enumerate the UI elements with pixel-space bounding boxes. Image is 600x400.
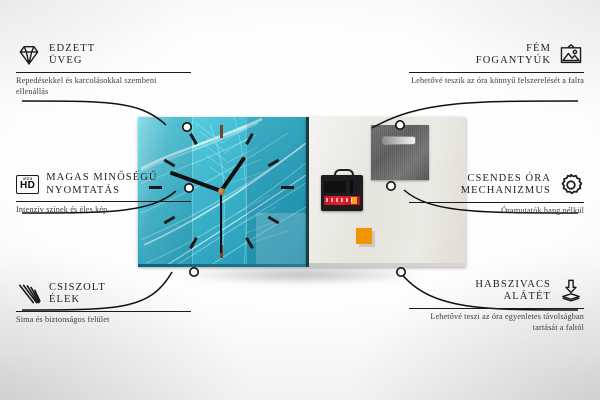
feature-header: HABSZIVACS ALÁTÉT: [409, 278, 584, 304]
feature-header: FÉM FOGANTYÚK: [409, 42, 584, 68]
diamond-icon: [16, 42, 42, 68]
feature-header: CSENDES ÓRA MECHANIZMUS: [409, 172, 584, 198]
feature-title: FÉM FOGANTYÚK: [476, 43, 551, 68]
clock-tick: [189, 133, 198, 145]
feature-header: EDZETT ÜVEG: [16, 42, 191, 68]
clock-tick: [245, 133, 254, 145]
clock-tick: [189, 237, 198, 249]
badge-hd-label: HD: [20, 181, 35, 191]
feature-title: MAGAS MINŐSÉGŰ NYOMTATÁS: [46, 172, 157, 197]
gear-icon: [558, 172, 584, 198]
feature-polished-edges[interactable]: CSISZOLT ÉLEK Sima és biztonságos felüle…: [16, 281, 191, 326]
quartz-clock-mechanism: [321, 169, 363, 211]
feature-description: Repedésekkel és karcolásokkal szembeni e…: [16, 76, 191, 97]
clock-tick: [164, 216, 176, 225]
feature-foam-pad[interactable]: HABSZIVACS ALÁTÉT Lehetővé teszi az óra …: [409, 278, 584, 333]
feature-header: ultra HD MAGAS MINŐSÉGŰ NYOMTATÁS: [16, 172, 191, 197]
feature-tempered-glass[interactable]: EDZETT ÜVEG Repedésekkel és karcolásokka…: [16, 42, 191, 97]
clock-center-cap: [218, 188, 225, 195]
feature-metal-handles[interactable]: FÉM FOGANTYÚK Lehetővé teszik az óra kön…: [409, 42, 584, 87]
feature-header: CSISZOLT ÉLEK: [16, 281, 191, 307]
feature-title: CSENDES ÓRA MECHANIZMUS: [461, 173, 551, 198]
feature-title: HABSZIVACS ALÁTÉT: [475, 279, 551, 304]
feature-title: CSISZOLT ÉLEK: [49, 282, 106, 307]
feature-description: Sima és biztonságos felület: [16, 315, 191, 326]
feature-rule: [409, 202, 584, 203]
picture-hanger-icon: [558, 42, 584, 68]
feature-description: Lehetővé teszi az óra egyenletes távolsá…: [409, 312, 584, 333]
feature-silent-mechanism[interactable]: CSENDES ÓRA MECHANIZMUS Óramutatók hang …: [409, 172, 584, 217]
feature-high-quality-print[interactable]: ultra HD MAGAS MINŐSÉGŰ NYOMTATÁS Intenz…: [16, 172, 191, 216]
feature-rule: [16, 201, 191, 202]
mechanism-panel: [324, 181, 346, 193]
clock-second-hand: [220, 191, 222, 253]
feature-rule: [409, 308, 584, 309]
infographic-canvas: EDZETT ÜVEG Repedésekkel és karcolásokka…: [0, 0, 600, 400]
clock-tick: [164, 159, 176, 168]
back-panel-edge: [309, 263, 466, 267]
feature-rule: [16, 72, 191, 73]
feature-description: Lehetővé teszik az óra könnyű felszerelé…: [409, 76, 584, 87]
foam-spacer-pad: [356, 228, 372, 244]
sanded-edge-icon: [16, 281, 42, 307]
hanger-slot: [382, 136, 416, 145]
press-pad-icon: [558, 278, 584, 304]
clock-tick: [245, 237, 254, 249]
clock-tick: [220, 125, 223, 138]
feature-description: Intenzív színek és éles kép: [16, 205, 191, 216]
mechanism-divider: [350, 180, 353, 194]
clock-tick: [281, 186, 294, 189]
feature-rule: [16, 311, 191, 312]
ultra-hd-badge-icon: ultra HD: [16, 175, 39, 194]
feature-description: Óramutatók hang nélkül: [409, 206, 584, 217]
battery-label: [326, 198, 352, 202]
clock-tick: [268, 159, 280, 168]
clock-hour-hand: [219, 156, 246, 192]
feature-rule: [409, 72, 584, 73]
clock-tick: [268, 216, 280, 225]
feature-title: EDZETT ÜVEG: [49, 43, 95, 68]
